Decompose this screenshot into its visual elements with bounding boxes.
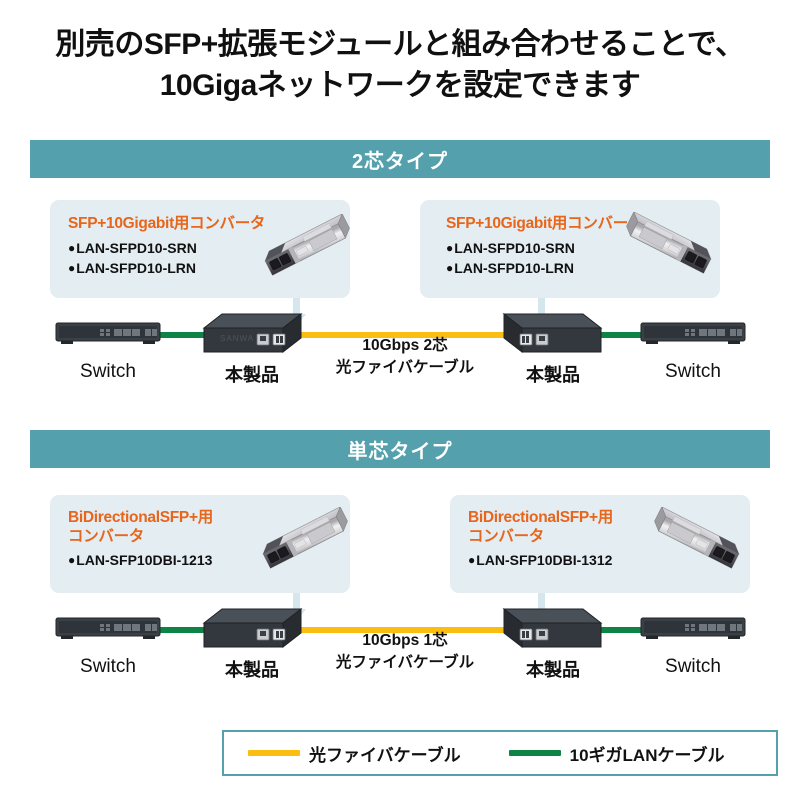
device-label-switch-right: Switch <box>613 361 773 383</box>
callout-model-list: ●LAN-SFPD10-SRN ●LAN-SFPD10-LRN <box>68 238 197 279</box>
bullet-icon: ● <box>68 553 75 567</box>
sfp-transceiver-image <box>618 212 726 282</box>
list-item: ●LAN-SFP10DBI-1213 <box>68 550 212 570</box>
fiber-cable-label-line-1: 10Gbps 2芯 <box>275 335 535 357</box>
sfp-transceiver-image <box>646 507 754 577</box>
device-label-switch-left: Switch <box>28 656 188 678</box>
device-label-switch-right: Switch <box>613 656 773 678</box>
device-label-switch-left: Switch <box>28 361 188 383</box>
lan-cable-swatch-icon <box>509 750 561 756</box>
callout-heading-line-1: BiDirectionalSFP+用 <box>68 509 213 526</box>
callout-heading-line-1: SFP+10Gigabit用コンバータ <box>68 215 265 232</box>
list-item: ●LAN-SFPD10-LRN <box>446 258 575 278</box>
bullet-icon: ● <box>68 261 75 275</box>
diagram-row-2-core: SANWA <box>0 305 800 405</box>
callout-heading-line-1: BiDirectionalSFP+用 <box>468 509 613 526</box>
callout-heading-line-2: コンバータ <box>468 528 544 545</box>
bullet-icon: ● <box>468 553 475 567</box>
network-switch-left <box>53 614 163 644</box>
device-label-product-right: 本製品 <box>473 656 633 682</box>
callout-heading: SFP+10Gigabit用コンバータ <box>446 214 643 233</box>
list-item: ●LAN-SFPD10-LRN <box>68 258 197 278</box>
fiber-cable-swatch-icon <box>248 750 300 756</box>
section-header-2-core: 2芯タイプ <box>30 140 770 178</box>
bullet-icon: ● <box>446 241 453 255</box>
legend-item-lan: 10ギガLANケーブル <box>509 741 725 766</box>
callout-model-list: ●LAN-SFP10DBI-1213 <box>68 550 212 570</box>
model-number: LAN-SFP10DBI-1312 <box>476 552 612 568</box>
model-number: LAN-SFPD10-LRN <box>76 260 196 276</box>
network-switch-right <box>638 614 748 644</box>
diagram-row-single-core: Switch 本製品 10Gbps 1芯 光ファイバケーブル 本製品 Switc… <box>0 600 800 700</box>
fiber-cable-label-line-1: 10Gbps 1芯 <box>275 630 535 652</box>
callout-model-list: ●LAN-SFP10DBI-1312 <box>468 550 612 570</box>
callout-bidi-converter-left-bottom: BiDirectionalSFP+用 コンバータ ●LAN-SFP10DBI-1… <box>50 495 350 593</box>
page-title-line-2: 10Gigaネットワークを設定できます <box>0 65 800 106</box>
section-header-single-core: 単芯タイプ <box>30 430 770 468</box>
callout-sfp-converter-right-top: SFP+10Gigabit用コンバータ ●LAN-SFPD10-SRN ●LAN… <box>420 200 720 298</box>
list-item: ●LAN-SFPD10-SRN <box>446 238 575 258</box>
legend-label: 光ファイバケーブル <box>309 741 461 766</box>
bullet-icon: ● <box>446 261 453 275</box>
model-number: LAN-SFP10DBI-1213 <box>76 552 212 568</box>
page-title: 別売のSFP+拡張モジュールと組み合わせることで、 10Gigaネットワークを設… <box>0 24 800 107</box>
svg-text:SANWA: SANWA <box>220 334 254 343</box>
infographic-page: 別売のSFP+拡張モジュールと組み合わせることで、 10Gigaネットワークを設… <box>0 0 800 800</box>
legend: 光ファイバケーブル 10ギガLANケーブル <box>222 730 778 776</box>
legend-item-fiber: 光ファイバケーブル <box>248 741 461 766</box>
section-header-label: 単芯タイプ <box>348 435 453 464</box>
sfp-transceiver-image <box>248 507 356 577</box>
list-item: ●LAN-SFP10DBI-1312 <box>468 550 612 570</box>
legend-label: 10ギガLANケーブル <box>570 741 725 766</box>
model-number: LAN-SFPD10-SRN <box>454 240 575 256</box>
callout-bidi-converter-right-bottom: BiDirectionalSFP+用 コンバータ ●LAN-SFP10DBI-1… <box>450 495 750 593</box>
network-switch-left <box>53 319 163 349</box>
model-number: LAN-SFPD10-LRN <box>454 260 574 276</box>
callout-heading: BiDirectionalSFP+用 コンバータ <box>468 508 613 547</box>
page-title-line-1: 別売のSFP+拡張モジュールと組み合わせることで、 <box>0 24 800 65</box>
callout-heading: SFP+10Gigabit用コンバータ <box>68 214 265 233</box>
callout-heading-line-1: SFP+10Gigabit用コンバータ <box>446 215 643 232</box>
bullet-icon: ● <box>68 241 75 255</box>
callout-sfp-converter-left-top: SFP+10Gigabit用コンバータ ●LAN-SFPD10-SRN ●LAN… <box>50 200 350 298</box>
list-item: ●LAN-SFPD10-SRN <box>68 238 197 258</box>
callout-model-list: ●LAN-SFPD10-SRN ●LAN-SFPD10-LRN <box>446 238 575 279</box>
section-header-label: 2芯タイプ <box>352 145 448 174</box>
sfp-transceiver-image <box>250 214 358 284</box>
network-switch-right <box>638 319 748 349</box>
callout-heading: BiDirectionalSFP+用 コンバータ <box>68 508 213 547</box>
callout-heading-line-2: コンバータ <box>68 528 144 545</box>
model-number: LAN-SFPD10-SRN <box>76 240 197 256</box>
device-label-product-right: 本製品 <box>473 361 633 387</box>
